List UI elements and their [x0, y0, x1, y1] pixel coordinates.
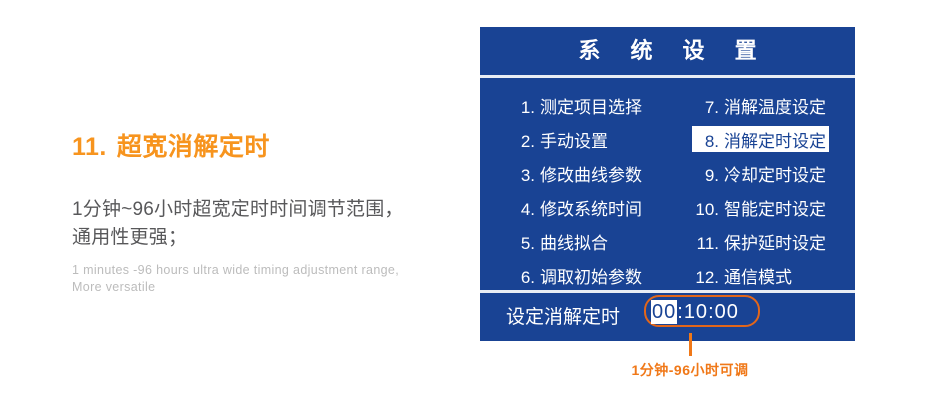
- callout-connector-line: [689, 333, 692, 356]
- menu-item-11[interactable]: 11. 保护延时设定: [692, 228, 829, 254]
- menu-item-1-label: 测定项目选择: [540, 93, 642, 118]
- menu-item-11-label: 保护延时设定: [724, 229, 826, 254]
- menu-item-1-number: 1.: [511, 98, 535, 118]
- time-hours-segment[interactable]: 00: [651, 300, 677, 324]
- menu-item-2-number: 2.: [511, 132, 535, 152]
- menu-item-5[interactable]: 5. 曲线拟合: [508, 228, 611, 254]
- menu-item-11-number: 11.: [695, 234, 719, 254]
- menu-item-5-number: 5.: [511, 234, 535, 254]
- feature-body-line-1: 1分钟~96小时超宽定时时间调节范围，: [72, 199, 404, 220]
- menu-item-1[interactable]: 1. 测定项目选择: [508, 92, 645, 118]
- menu-item-4[interactable]: 4. 修改系统时间: [508, 194, 645, 220]
- menu-item-12-label: 通信模式: [724, 263, 792, 288]
- digestion-timer-setting-row: 设定消解定时 00:10:00: [480, 293, 855, 341]
- menu-item-3-number: 3.: [511, 166, 535, 186]
- feature-number: 11.: [72, 133, 107, 161]
- feature-body-text: 1分钟~96小时超宽定时时间调节范围， 通用性更强；: [72, 196, 452, 252]
- menu-item-8-number: 8.: [695, 132, 719, 152]
- settings-menu-area: 1. 测定项目选择 2. 手动设置 3. 修改曲线参数 4. 修改系统时间 5.…: [480, 78, 855, 290]
- feature-body-en-line-1: 1 minutes -96 hours ultra wide timing ad…: [72, 263, 399, 277]
- menu-item-7-number: 7.: [695, 98, 719, 118]
- menu-item-6[interactable]: 6. 调取初始参数: [508, 262, 645, 288]
- menu-item-7[interactable]: 7. 消解温度设定: [692, 92, 829, 118]
- menu-item-3-label: 修改曲线参数: [540, 161, 642, 186]
- menu-item-4-label: 修改系统时间: [540, 195, 642, 220]
- menu-item-4-number: 4.: [511, 200, 535, 220]
- menu-column-left: 1. 测定项目选择 2. 手动设置 3. 修改曲线参数 4. 修改系统时间 5.…: [508, 92, 645, 296]
- feature-body-english: 1 minutes -96 hours ultra wide timing ad…: [72, 262, 452, 296]
- menu-item-3[interactable]: 3. 修改曲线参数: [508, 160, 645, 186]
- panel-title: 系 统 设 置: [480, 27, 855, 75]
- device-screen-panel: 系 统 设 置 1. 测定项目选择 2. 手动设置 3. 修改曲线参数 4. 修…: [480, 27, 855, 341]
- menu-item-6-label: 调取初始参数: [540, 263, 642, 288]
- menu-item-10-number: 10.: [695, 200, 719, 220]
- menu-column-right: 7. 消解温度设定 8. 消解定时设定 9. 冷却定时设定 10. 智能定时设定…: [692, 92, 829, 296]
- feature-body-line-2: 通用性更强；: [72, 224, 452, 252]
- menu-item-12-number: 12.: [695, 268, 719, 288]
- menu-item-6-number: 6.: [511, 268, 535, 288]
- menu-item-9-number: 9.: [695, 166, 719, 186]
- setting-row-label: 设定消解定时: [506, 302, 620, 329]
- time-minutes-segment[interactable]: 10: [684, 301, 708, 323]
- callout-label: 1分钟-96小时可调: [560, 360, 820, 380]
- menu-item-9[interactable]: 9. 冷却定时设定: [692, 160, 829, 186]
- menu-item-10[interactable]: 10. 智能定时设定: [692, 194, 829, 220]
- menu-item-8-selected[interactable]: 8. 消解定时设定: [692, 126, 829, 152]
- menu-item-8-label: 消解定时设定: [724, 127, 826, 152]
- menu-item-9-label: 冷却定时设定: [724, 161, 826, 186]
- feature-heading: 11.超宽消解定时: [72, 132, 452, 162]
- feature-title: 超宽消解定时: [117, 133, 270, 161]
- menu-item-12[interactable]: 12. 通信模式: [692, 262, 795, 288]
- time-seconds-segment[interactable]: 00: [715, 301, 739, 323]
- time-value-field[interactable]: 00:10:00: [651, 301, 739, 324]
- menu-item-2[interactable]: 2. 手动设置: [508, 126, 611, 152]
- menu-item-10-label: 智能定时设定: [724, 195, 826, 220]
- menu-item-5-label: 曲线拟合: [540, 229, 608, 254]
- menu-item-2-label: 手动设置: [540, 127, 608, 152]
- menu-item-7-label: 消解温度设定: [724, 93, 826, 118]
- feature-description-block: 11.超宽消解定时 1分钟~96小时超宽定时时间调节范围， 通用性更强； 1 m…: [72, 132, 452, 296]
- feature-body-en-line-2: More versatile: [72, 279, 452, 296]
